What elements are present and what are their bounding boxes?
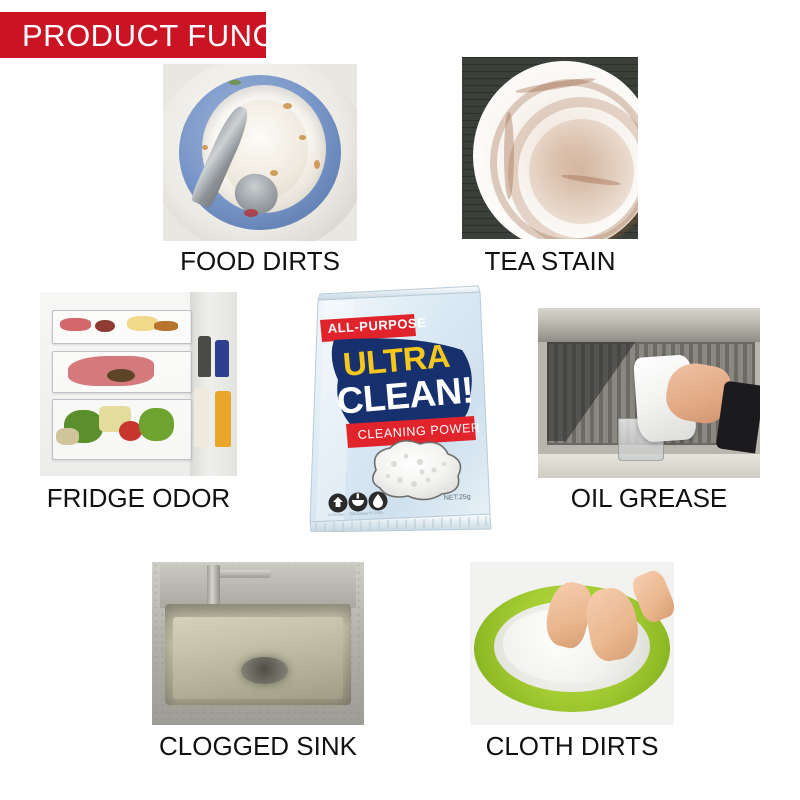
tea-stain-photo (462, 57, 638, 239)
product-function-infographic: PRODUCT FUNCTION FOOD DIRTS (0, 0, 800, 800)
product-package-illustration: ALL-PURPOSE ULTRA CLEAN! CLEANING POWER (294, 284, 502, 532)
caption-food-dirts: FOOD DIRTS (163, 248, 357, 274)
clogged-sink-photo (152, 562, 364, 725)
caption-clogged-sink: CLOGGED SINK (152, 733, 364, 759)
oil-grease-photo (538, 308, 760, 478)
caption-tea-stain: TEA STAIN (462, 248, 638, 274)
package-icon-group (329, 492, 388, 513)
cloth-dirts-photo (470, 562, 674, 725)
food-dirts-photo (163, 64, 357, 241)
fridge-odor-photo (40, 292, 237, 476)
caption-fridge-odor: FRIDGE ODOR (40, 485, 237, 511)
package-net-weight: NET:25g (444, 494, 471, 502)
caption-oil-grease: OIL GREASE (538, 485, 760, 511)
svg-text:TABLEWARE: TABLEWARE (349, 512, 368, 516)
header-banner: PRODUCT FUNCTION (0, 12, 266, 58)
svg-text:KITCHEN: KITCHEN (369, 511, 384, 515)
svg-text:CLOTHING: CLOTHING (328, 513, 345, 517)
product-package: ALL-PURPOSE ULTRA CLEAN! CLEANING POWER (294, 284, 502, 532)
caption-cloth-dirts: CLOTH DIRTS (470, 733, 674, 759)
page-title: PRODUCT FUNCTION (0, 20, 351, 51)
